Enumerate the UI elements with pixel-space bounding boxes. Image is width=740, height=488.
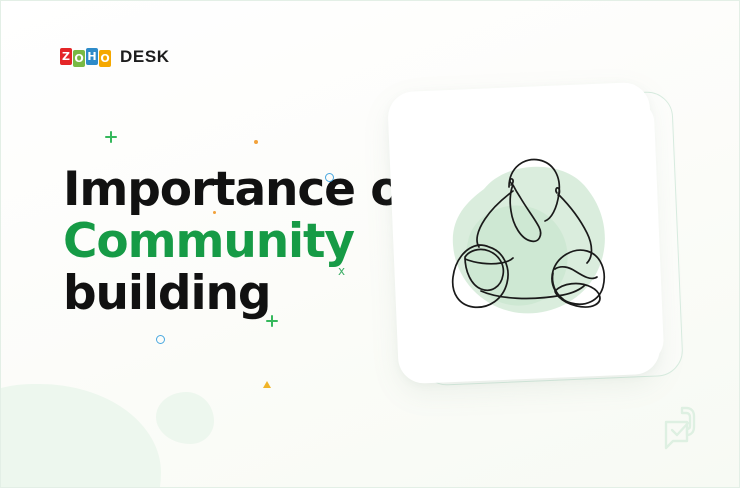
zoho-tile-o2: O <box>99 50 111 67</box>
zoho-tile-z: Z <box>60 48 72 65</box>
community-line-art-illustration <box>421 141 641 351</box>
ring-blue-left <box>156 335 165 344</box>
ring-cyan-headline <box>325 173 334 182</box>
headline-line-3: building <box>63 268 423 320</box>
page-title: Importance of Community building <box>63 164 423 320</box>
headline-line-2: Community <box>63 216 423 268</box>
dot-orange-top <box>254 140 258 144</box>
triangle-amber-bottom <box>263 381 271 388</box>
sparkle-green-top-left <box>105 131 117 143</box>
brand-logo[interactable]: Z O H O DESK <box>60 47 170 67</box>
sparkle-green-bottom-left <box>266 315 278 327</box>
dot-orange-headline <box>213 211 216 214</box>
x-mark-green-headline: x <box>338 265 345 277</box>
banner-root: Z O H O DESK Importance of Community bui… <box>0 0 740 488</box>
product-name: DESK <box>120 47 170 67</box>
zoho-desk-watermark-icon <box>661 405 703 451</box>
headline-line-1: Importance of <box>63 164 423 216</box>
zoho-tile-h: H <box>86 48 98 65</box>
background-blob-large <box>0 384 161 488</box>
zoho-logo-icon: Z O H O <box>60 48 111 67</box>
zoho-tile-o1: O <box>73 50 85 67</box>
background-blob-small <box>156 392 214 444</box>
